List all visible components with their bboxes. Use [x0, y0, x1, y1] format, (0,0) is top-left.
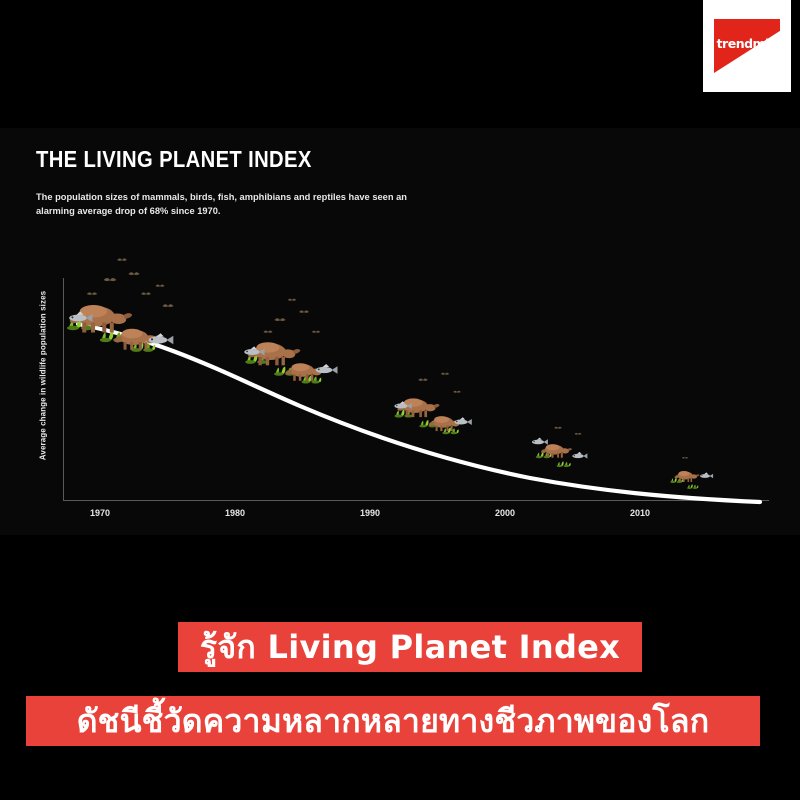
headline-banner-secondary-text: ดัชนีชี้วัดความหลากหลายทางชีวภาพของโลก [77, 696, 710, 747]
headline-banner-primary-text: รู้จัก Living Planet Index [200, 622, 620, 673]
trend-line [78, 324, 760, 502]
logo-wordmark: trendmizi [716, 38, 780, 51]
living-planet-index-chart: Average change in wildlife population si… [0, 128, 800, 535]
logo-word-mizi: mizi [753, 36, 780, 51]
logo-mark: trendmizi [714, 19, 780, 73]
headline-banner-secondary: ดัชนีชี้วัดความหลากหลายทางชีวภาพของโลก [26, 696, 760, 746]
logo-word-trend: trend [717, 36, 753, 51]
chart-plot-svg [0, 128, 800, 535]
cluster-1970 [67, 258, 174, 351]
cluster-2013 [670, 457, 713, 489]
headline-banner-primary: รู้จัก Living Planet Index [178, 622, 642, 672]
cluster-1982 [244, 299, 337, 384]
cluster-2003 [532, 427, 587, 467]
trendmizi-logo[interactable]: trendmizi [703, 0, 791, 92]
cluster-1993 [394, 373, 471, 435]
infographic-panel: THE LIVING PLANET INDEX The population s… [0, 128, 800, 535]
infographic-page: trendmizi THE LIVING PLANET INDEX The po… [0, 0, 800, 800]
